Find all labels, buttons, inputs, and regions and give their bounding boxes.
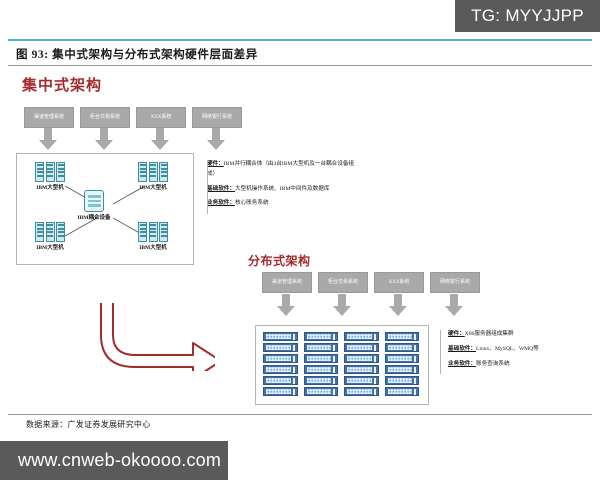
mainframe-label: IBM大型机 xyxy=(133,243,173,251)
server-unit xyxy=(385,387,420,396)
system-box-channel-mgmt: 渠道管理系统 xyxy=(262,272,312,293)
server-unit xyxy=(344,387,379,396)
system-box-xxx: XXX系统 xyxy=(374,272,424,293)
annotation-base-software: 基础软件：大型机操作系统、IBM中间件及数据库 xyxy=(207,185,357,195)
mainframe-icon xyxy=(133,162,173,182)
coupling-device-node: IBM耦合设备 xyxy=(68,190,120,221)
mainframe-label: IBM大型机 xyxy=(30,243,70,251)
annotation-business-software: 业务软件：账务查询系统 xyxy=(440,360,598,370)
down-arrow-icon xyxy=(275,294,297,316)
annotation-rule xyxy=(207,160,208,214)
watermark-label: www.cnweb-okoooo.com xyxy=(18,450,221,471)
mainframe-icon xyxy=(133,222,173,242)
down-arrow-icon xyxy=(37,128,59,150)
server-unit xyxy=(263,387,298,396)
centralized-heading: 集中式架构 xyxy=(22,74,102,95)
mainframe-node: IBM大型机 xyxy=(30,162,70,191)
annotation-key: 硬件： xyxy=(207,161,224,167)
annotation-value: 账务查询系统 xyxy=(476,361,510,367)
annotation-rule xyxy=(440,330,441,374)
mainframe-label: IBM大型机 xyxy=(133,183,173,191)
server-unit xyxy=(263,354,298,363)
server-unit xyxy=(304,365,339,374)
server-unit xyxy=(385,376,420,385)
server-unit xyxy=(304,354,339,363)
red-bent-arrow-icon xyxy=(95,303,215,371)
mainframe-label: IBM大型机 xyxy=(30,183,70,191)
mainframe-icon xyxy=(30,162,70,182)
mainframe-node: IBM大型机 xyxy=(133,222,173,251)
annotation-business-software: 业务软件：核心账务系统 xyxy=(207,199,357,209)
down-arrow-icon xyxy=(93,128,115,150)
down-arrow-icon xyxy=(443,294,465,316)
footer-source: 数据来源：广发证券发展研究中心 xyxy=(26,419,151,430)
system-box-xxx: XXX系统 xyxy=(136,107,186,128)
system-box-channel-mgmt: 渠道管理系统 xyxy=(24,107,74,128)
annotation-base-software: 基础软件：Linux、MySQL、WMQ等 xyxy=(440,345,598,355)
server-cluster-grid xyxy=(263,332,419,396)
server-unit xyxy=(263,332,298,341)
server-unit xyxy=(385,365,420,374)
down-arrow-icon xyxy=(331,294,353,316)
annotation-hardware: 硬件：X86服务器组成集群 xyxy=(440,330,598,340)
mainframe-icon xyxy=(30,222,70,242)
annotation-value: 核心账务系统 xyxy=(235,200,269,206)
server-unit xyxy=(385,343,420,352)
server-unit xyxy=(304,376,339,385)
centralized-annotations: 硬件：IBM并行耦合体（由4台IBM大型机及一台耦合设备组成） 基础软件：大型机… xyxy=(207,160,357,214)
watermark: www.cnweb-okoooo.com xyxy=(0,441,228,480)
server-unit xyxy=(263,343,298,352)
annotation-value: Linux、MySQL、WMQ等 xyxy=(476,346,539,352)
server-unit xyxy=(385,332,420,341)
annotation-hardware: 硬件：IBM并行耦合体（由4台IBM大型机及一台耦合设备组成） xyxy=(207,160,357,180)
annotation-key: 业务软件： xyxy=(448,361,476,367)
server-unit xyxy=(344,376,379,385)
server-unit xyxy=(344,343,379,352)
figure-title: 图 93: 集中式架构与分布式架构硬件层面差异 xyxy=(16,44,592,64)
annotation-key: 硬件： xyxy=(448,331,465,337)
server-unit xyxy=(304,332,339,341)
annotation-value: X86服务器组成集群 xyxy=(465,331,514,337)
annotation-key: 基础软件： xyxy=(448,346,476,352)
distributed-annotations: 硬件：X86服务器组成集群 基础软件：Linux、MySQL、WMQ等 业务软件… xyxy=(440,330,598,374)
tg-badge: TG: MYYJJPP xyxy=(455,0,600,32)
mainframe-node: IBM大型机 xyxy=(133,162,173,191)
figure-title-underline xyxy=(8,65,592,66)
down-arrow-icon xyxy=(205,128,227,150)
coupling-device-label: IBM耦合设备 xyxy=(68,213,120,221)
server-unit xyxy=(304,343,339,352)
server-unit xyxy=(344,332,379,341)
distributed-heading: 分布式架构 xyxy=(248,252,311,269)
system-box-online-banking: 网络银行系统 xyxy=(192,107,242,128)
figure-top-rule xyxy=(8,39,592,41)
mainframe-node: IBM大型机 xyxy=(30,222,70,251)
coupling-device-icon xyxy=(84,190,104,212)
tg-badge-label: TG: MYYJJPP xyxy=(471,6,584,26)
system-box-counter-trade: 柜台交易系统 xyxy=(80,107,130,128)
down-arrow-icon xyxy=(149,128,171,150)
server-unit xyxy=(344,365,379,374)
footer-rule xyxy=(8,414,592,415)
server-unit xyxy=(385,354,420,363)
server-unit xyxy=(263,376,298,385)
annotation-key: 基础软件： xyxy=(207,186,235,192)
server-unit xyxy=(263,365,298,374)
server-unit xyxy=(344,354,379,363)
down-arrow-icon xyxy=(387,294,409,316)
system-box-online-banking: 网络银行系统 xyxy=(430,272,480,293)
annotation-value: IBM并行耦合体（由4台IBM大型机及一台耦合设备组成） xyxy=(207,161,354,177)
annotation-key: 业务软件： xyxy=(207,200,235,206)
server-unit xyxy=(304,387,339,396)
annotation-value: 大型机操作系统、IBM中间件及数据库 xyxy=(235,186,329,192)
system-box-counter-trade: 柜台交易系统 xyxy=(318,272,368,293)
